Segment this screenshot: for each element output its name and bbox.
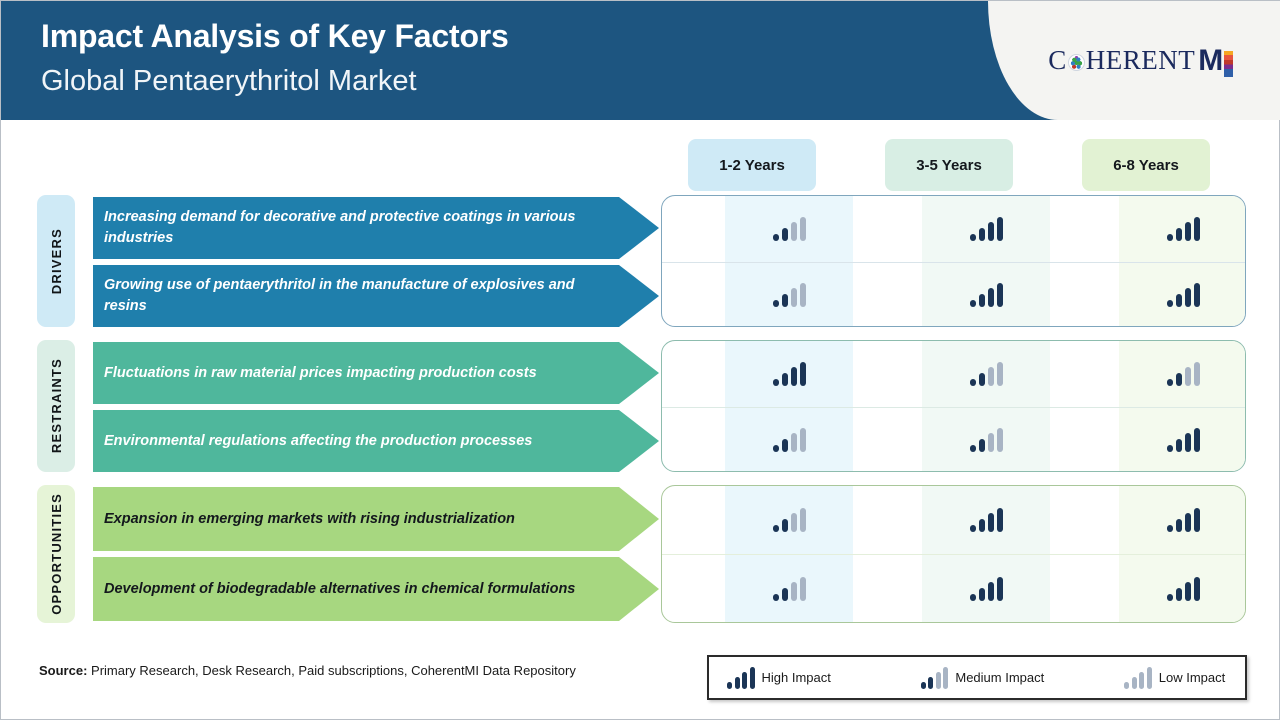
- impact-cell: [725, 196, 853, 262]
- impact-cell: [1119, 487, 1246, 553]
- impact-bar: [988, 367, 994, 386]
- group-label-drivers: DRIVERS: [37, 195, 75, 327]
- row-divider: [662, 554, 1245, 555]
- logo-panel: C HERENT M: [988, 1, 1280, 120]
- factor-text: Increasing demand for decorative and pro…: [104, 207, 607, 249]
- high-impact-icon: [727, 667, 755, 689]
- coherentmi-logo: C HERENT M: [1048, 44, 1233, 78]
- group-opportunities: OPPORTUNITIES Expansion in emerging mark…: [37, 485, 1246, 623]
- high-impact-icon: [1167, 577, 1200, 601]
- impact-bar: [791, 288, 797, 307]
- medium-impact-icon: [970, 428, 1003, 452]
- high-impact-icon: [970, 577, 1003, 601]
- title-block: Impact Analysis of Key Factors Global Pe…: [41, 13, 509, 103]
- medium-impact-icon: [773, 283, 806, 307]
- impact-bar: [979, 294, 985, 307]
- impact-bar: [1147, 667, 1152, 689]
- infographic-page: Impact Analysis of Key Factors Global Pe…: [0, 0, 1280, 720]
- factor-arrow[interactable]: Growing use of pentaerythritol in the ma…: [93, 265, 659, 327]
- impact-bar: [1185, 222, 1191, 241]
- source-label: Source:: [39, 663, 87, 678]
- source-text: Primary Research, Desk Research, Paid su…: [87, 663, 575, 678]
- medium-impact-icon: [1167, 362, 1200, 386]
- impact-bar: [921, 682, 926, 689]
- impact-bar: [735, 677, 740, 689]
- impact-bar: [791, 222, 797, 241]
- impact-bar: [773, 445, 779, 452]
- impact-bar: [979, 588, 985, 601]
- impact-bar: [791, 582, 797, 601]
- impact-bar: [1194, 217, 1200, 241]
- impact-bar: [773, 300, 779, 307]
- group-label-text: OPPORTUNITIES: [49, 493, 64, 615]
- globe-icon: [1068, 54, 1085, 71]
- impact-bar: [1167, 379, 1173, 386]
- impact-bar: [1176, 439, 1182, 452]
- impact-bar: [782, 519, 788, 532]
- impact-bar: [1176, 519, 1182, 532]
- impact-bar: [988, 433, 994, 452]
- impact-bar: [800, 362, 806, 386]
- impact-bar: [1194, 577, 1200, 601]
- logo-gradient-i-icon: [1224, 51, 1233, 77]
- column-header-1-2-years: 1-2 Years: [688, 139, 816, 191]
- source-note: Source: Primary Research, Desk Research,…: [39, 661, 579, 680]
- impact-bar: [800, 283, 806, 307]
- impact-bar: [1176, 228, 1182, 241]
- impact-cell: [725, 262, 853, 327]
- legend-label: Medium Impact: [955, 670, 1044, 685]
- logo-text-herent: HERENT: [1086, 45, 1195, 76]
- impact-bar: [943, 667, 948, 689]
- factor-text: Fluctuations in raw material prices impa…: [104, 363, 537, 384]
- group-outline: [661, 485, 1246, 623]
- impact-bar: [1194, 283, 1200, 307]
- factor-list: Fluctuations in raw material prices impa…: [93, 340, 659, 472]
- impact-bar: [970, 300, 976, 307]
- impact-cell: [922, 341, 1050, 407]
- impact-cell: [922, 487, 1050, 553]
- impact-bar: [800, 217, 806, 241]
- group-drivers: DRIVERS Increasing demand for decorative…: [37, 195, 1246, 327]
- impact-bar: [1167, 445, 1173, 452]
- impact-bar: [997, 362, 1003, 386]
- high-impact-icon: [1167, 508, 1200, 532]
- impact-bar: [773, 379, 779, 386]
- impact-bar: [800, 508, 806, 532]
- high-impact-icon: [1167, 283, 1200, 307]
- legend-item-medium: Medium Impact: [921, 667, 1044, 689]
- impact-bar: [970, 525, 976, 532]
- impact-bar: [800, 428, 806, 452]
- column-headers: 1-2 Years 3-5 Years 6-8 Years: [1, 139, 1280, 191]
- impact-bar: [1185, 433, 1191, 452]
- impact-cell: [1119, 556, 1246, 622]
- impact-bar: [997, 428, 1003, 452]
- column-header-6-8-years: 6-8 Years: [1082, 139, 1210, 191]
- group-label-text: DRIVERS: [49, 228, 64, 294]
- impact-bar: [782, 373, 788, 386]
- impact-bar: [782, 294, 788, 307]
- impact-bar: [750, 667, 755, 689]
- impact-bar: [1185, 582, 1191, 601]
- high-impact-icon: [1167, 428, 1200, 452]
- impact-cell: [922, 196, 1050, 262]
- low-impact-icon: [1124, 667, 1152, 689]
- medium-impact-icon: [773, 428, 806, 452]
- impact-bar: [791, 513, 797, 532]
- factor-list: Expansion in emerging markets with risin…: [93, 485, 659, 623]
- impact-bar: [928, 677, 933, 689]
- factor-text: Expansion in emerging markets with risin…: [104, 509, 515, 530]
- impact-bar: [1132, 677, 1137, 689]
- high-impact-icon: [970, 217, 1003, 241]
- impact-cell: [1119, 407, 1246, 472]
- impact-bar: [970, 234, 976, 241]
- medium-impact-icon: [773, 577, 806, 601]
- impact-bar: [800, 577, 806, 601]
- impact-bar: [988, 222, 994, 241]
- page-title: Impact Analysis of Key Factors: [41, 13, 509, 59]
- impact-cell: [725, 487, 853, 553]
- impact-bar: [1185, 288, 1191, 307]
- impact-bar: [1176, 588, 1182, 601]
- impact-bar: [988, 582, 994, 601]
- factor-arrow[interactable]: Environmental regulations affecting the …: [93, 410, 659, 472]
- impact-bar: [1167, 594, 1173, 601]
- group-outline: [661, 340, 1246, 472]
- impact-bar: [970, 594, 976, 601]
- impact-bar: [1167, 300, 1173, 307]
- impact-bar: [1124, 682, 1129, 689]
- impact-bar: [791, 367, 797, 386]
- group-label-restraints: RESTRAINTS: [37, 340, 75, 472]
- impact-cell: [725, 341, 853, 407]
- high-impact-icon: [1167, 217, 1200, 241]
- impact-bar: [773, 594, 779, 601]
- factor-arrow[interactable]: Development of biodegradable alternative…: [93, 557, 659, 621]
- factor-list: Increasing demand for decorative and pro…: [93, 195, 659, 327]
- medium-impact-icon: [921, 667, 949, 689]
- impact-bar: [1176, 373, 1182, 386]
- impact-bar: [997, 577, 1003, 601]
- legend: High Impact Medium Impact Low Impact: [707, 655, 1247, 700]
- impact-bar: [782, 588, 788, 601]
- group-label-opportunities: OPPORTUNITIES: [37, 485, 75, 623]
- impact-bar: [979, 373, 985, 386]
- legend-label: High Impact: [762, 670, 831, 685]
- impact-bar: [782, 228, 788, 241]
- medium-impact-icon: [773, 217, 806, 241]
- impact-bar: [791, 433, 797, 452]
- impact-bar: [997, 283, 1003, 307]
- impact-bar: [1194, 362, 1200, 386]
- impact-bar: [988, 513, 994, 532]
- logo-letter-c: C: [1048, 45, 1067, 76]
- factor-text: Growing use of pentaerythritol in the ma…: [104, 275, 607, 317]
- high-impact-icon: [970, 283, 1003, 307]
- group-label-text: RESTRAINTS: [49, 358, 64, 453]
- impact-bar: [1176, 294, 1182, 307]
- impact-cell: [922, 262, 1050, 327]
- impact-bar: [979, 439, 985, 452]
- impact-bar: [1167, 234, 1173, 241]
- group-outline: [661, 195, 1246, 327]
- group-restraints: RESTRAINTS Fluctuations in raw material …: [37, 340, 1246, 472]
- impact-bar: [936, 672, 941, 689]
- impact-cell: [725, 407, 853, 472]
- impact-bar: [997, 217, 1003, 241]
- impact-bar: [997, 508, 1003, 532]
- factor-arrow[interactable]: Increasing demand for decorative and pro…: [93, 197, 659, 259]
- impact-bar: [979, 519, 985, 532]
- impact-cell: [1119, 196, 1246, 262]
- factor-arrow[interactable]: Fluctuations in raw material prices impa…: [93, 342, 659, 404]
- impact-cell: [1119, 341, 1246, 407]
- impact-bar: [1139, 672, 1144, 689]
- page-header: Impact Analysis of Key Factors Global Pe…: [1, 1, 1280, 120]
- page-subtitle: Global Pentaerythritol Market: [41, 59, 509, 103]
- high-impact-icon: [970, 508, 1003, 532]
- impact-bar: [988, 288, 994, 307]
- legend-item-low: Low Impact: [1124, 667, 1225, 689]
- medium-impact-icon: [970, 362, 1003, 386]
- legend-label: Low Impact: [1159, 670, 1225, 685]
- impact-bar: [1185, 513, 1191, 532]
- impact-matrix: DRIVERS Increasing demand for decorative…: [1, 191, 1280, 641]
- impact-cell: [922, 556, 1050, 622]
- column-header-3-5-years: 3-5 Years: [885, 139, 1013, 191]
- impact-bar: [742, 672, 747, 689]
- impact-bar: [979, 228, 985, 241]
- impact-bar: [782, 439, 788, 452]
- impact-bar: [773, 234, 779, 241]
- impact-bar: [970, 445, 976, 452]
- impact-bar: [1167, 525, 1173, 532]
- impact-cell: [922, 407, 1050, 472]
- impact-bar: [1185, 367, 1191, 386]
- impact-cell: [725, 556, 853, 622]
- impact-bar: [773, 525, 779, 532]
- impact-bar: [727, 682, 732, 689]
- impact-bar: [1194, 508, 1200, 532]
- medium-impact-icon: [773, 508, 806, 532]
- impact-bar: [1194, 428, 1200, 452]
- factor-arrow[interactable]: Expansion in emerging markets with risin…: [93, 487, 659, 551]
- impact-cell: [1119, 262, 1246, 327]
- logo-letter-m: M: [1198, 44, 1223, 78]
- factor-text: Environmental regulations affecting the …: [104, 431, 532, 452]
- factor-text: Development of biodegradable alternative…: [104, 579, 575, 600]
- impact-bar: [970, 379, 976, 386]
- legend-item-high: High Impact: [727, 667, 831, 689]
- high-impact-icon: [773, 362, 806, 386]
